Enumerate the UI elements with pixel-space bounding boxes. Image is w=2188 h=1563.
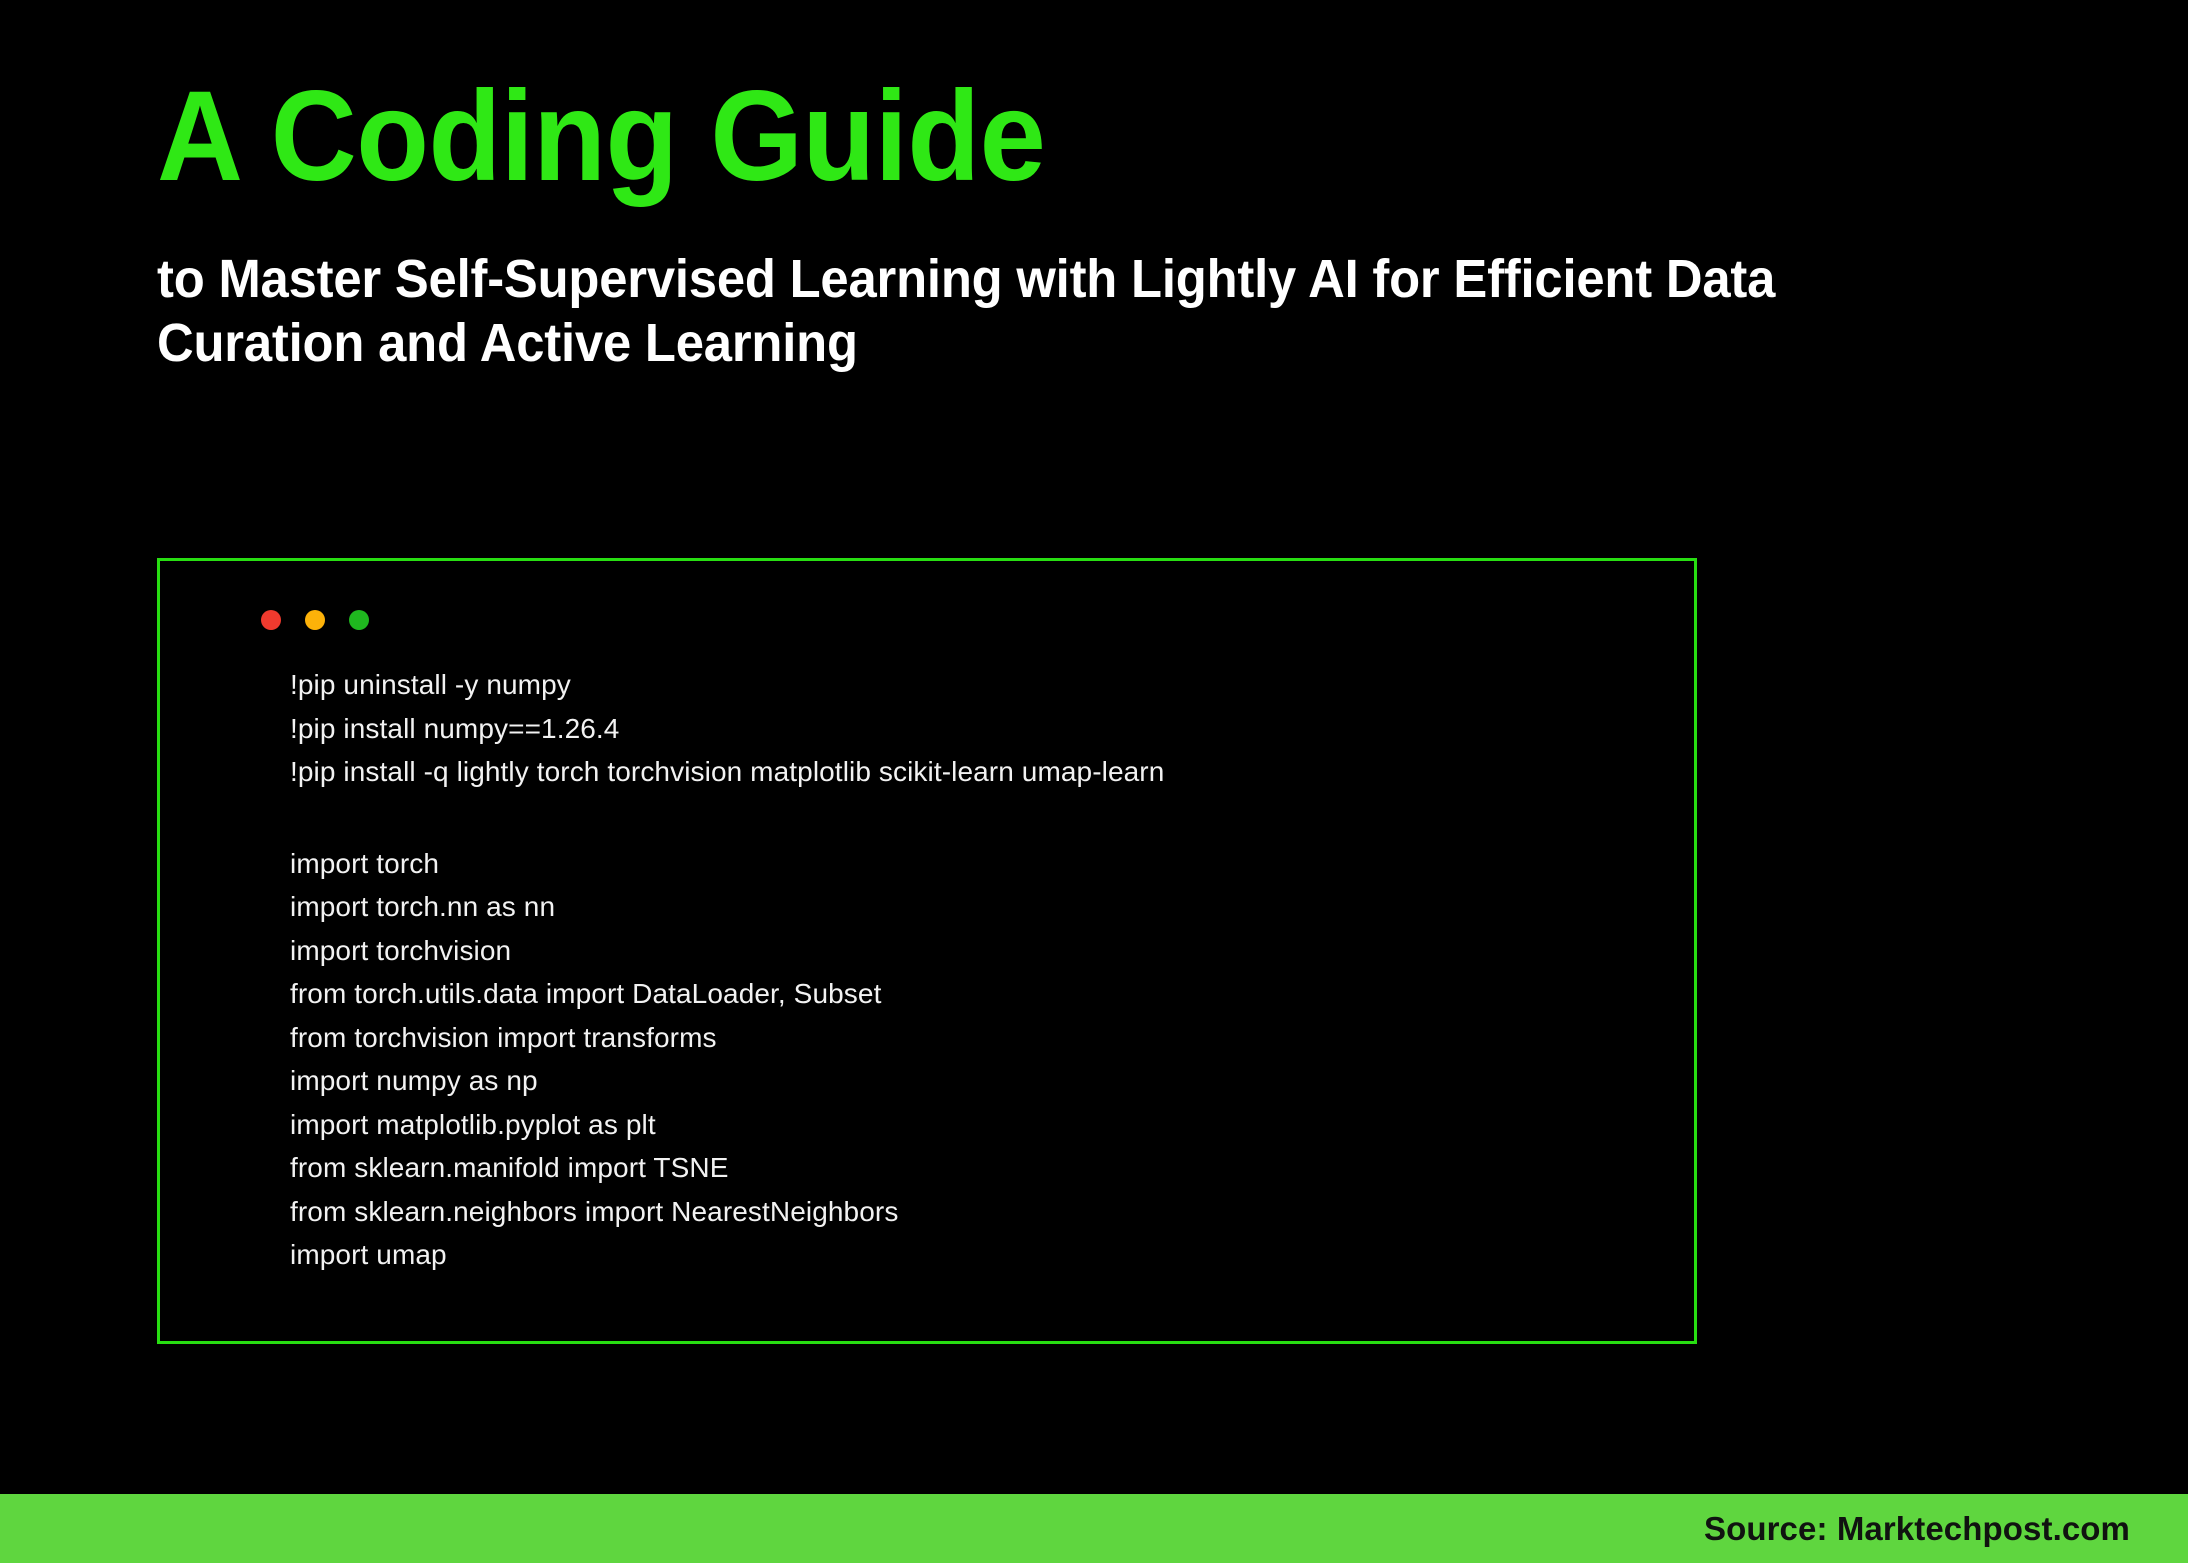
page-title: A Coding Guide <box>157 70 1924 204</box>
code-line: import numpy as np <box>290 1059 1664 1103</box>
code-line: from sklearn.manifold import TSNE <box>290 1146 1664 1190</box>
code-line: !pip uninstall -y numpy <box>290 663 1664 707</box>
close-window-dot-icon[interactable] <box>261 610 281 630</box>
window-controls <box>261 610 369 630</box>
code-line: from sklearn.neighbors import NearestNei… <box>290 1190 1664 1234</box>
code-line: import umap <box>290 1233 1664 1277</box>
slide-root: A Coding Guide to Master Self-Supervised… <box>0 0 2188 1563</box>
code-line: import torch <box>290 842 1664 886</box>
code-line: import torchvision <box>290 929 1664 973</box>
code-line: import matplotlib.pyplot as plt <box>290 1103 1664 1147</box>
code-line: !pip install numpy==1.26.4 <box>290 707 1664 751</box>
footer-bar: Source: Marktechpost.com <box>0 1494 2188 1563</box>
minimize-window-dot-icon[interactable] <box>305 610 325 630</box>
code-line: !pip install -q lightly torch torchvisio… <box>290 750 1664 794</box>
code-line: from torchvision import transforms <box>290 1016 1664 1060</box>
page-subtitle: to Master Self-Supervised Learning with … <box>157 248 1943 374</box>
code-line: from torch.utils.data import DataLoader,… <box>290 972 1664 1016</box>
heading-block: A Coding Guide to Master Self-Supervised… <box>157 70 2057 375</box>
code-group-install: !pip uninstall -y numpy !pip install num… <box>290 663 1664 794</box>
code-card: !pip uninstall -y numpy !pip install num… <box>157 558 1697 1344</box>
source-attribution: Source: Marktechpost.com <box>1704 1510 2130 1548</box>
code-group-imports: import torch import torch.nn as nn impor… <box>290 842 1664 1277</box>
code-block: !pip uninstall -y numpy !pip install num… <box>290 663 1664 1277</box>
code-line: import torch.nn as nn <box>290 885 1664 929</box>
maximize-window-dot-icon[interactable] <box>349 610 369 630</box>
